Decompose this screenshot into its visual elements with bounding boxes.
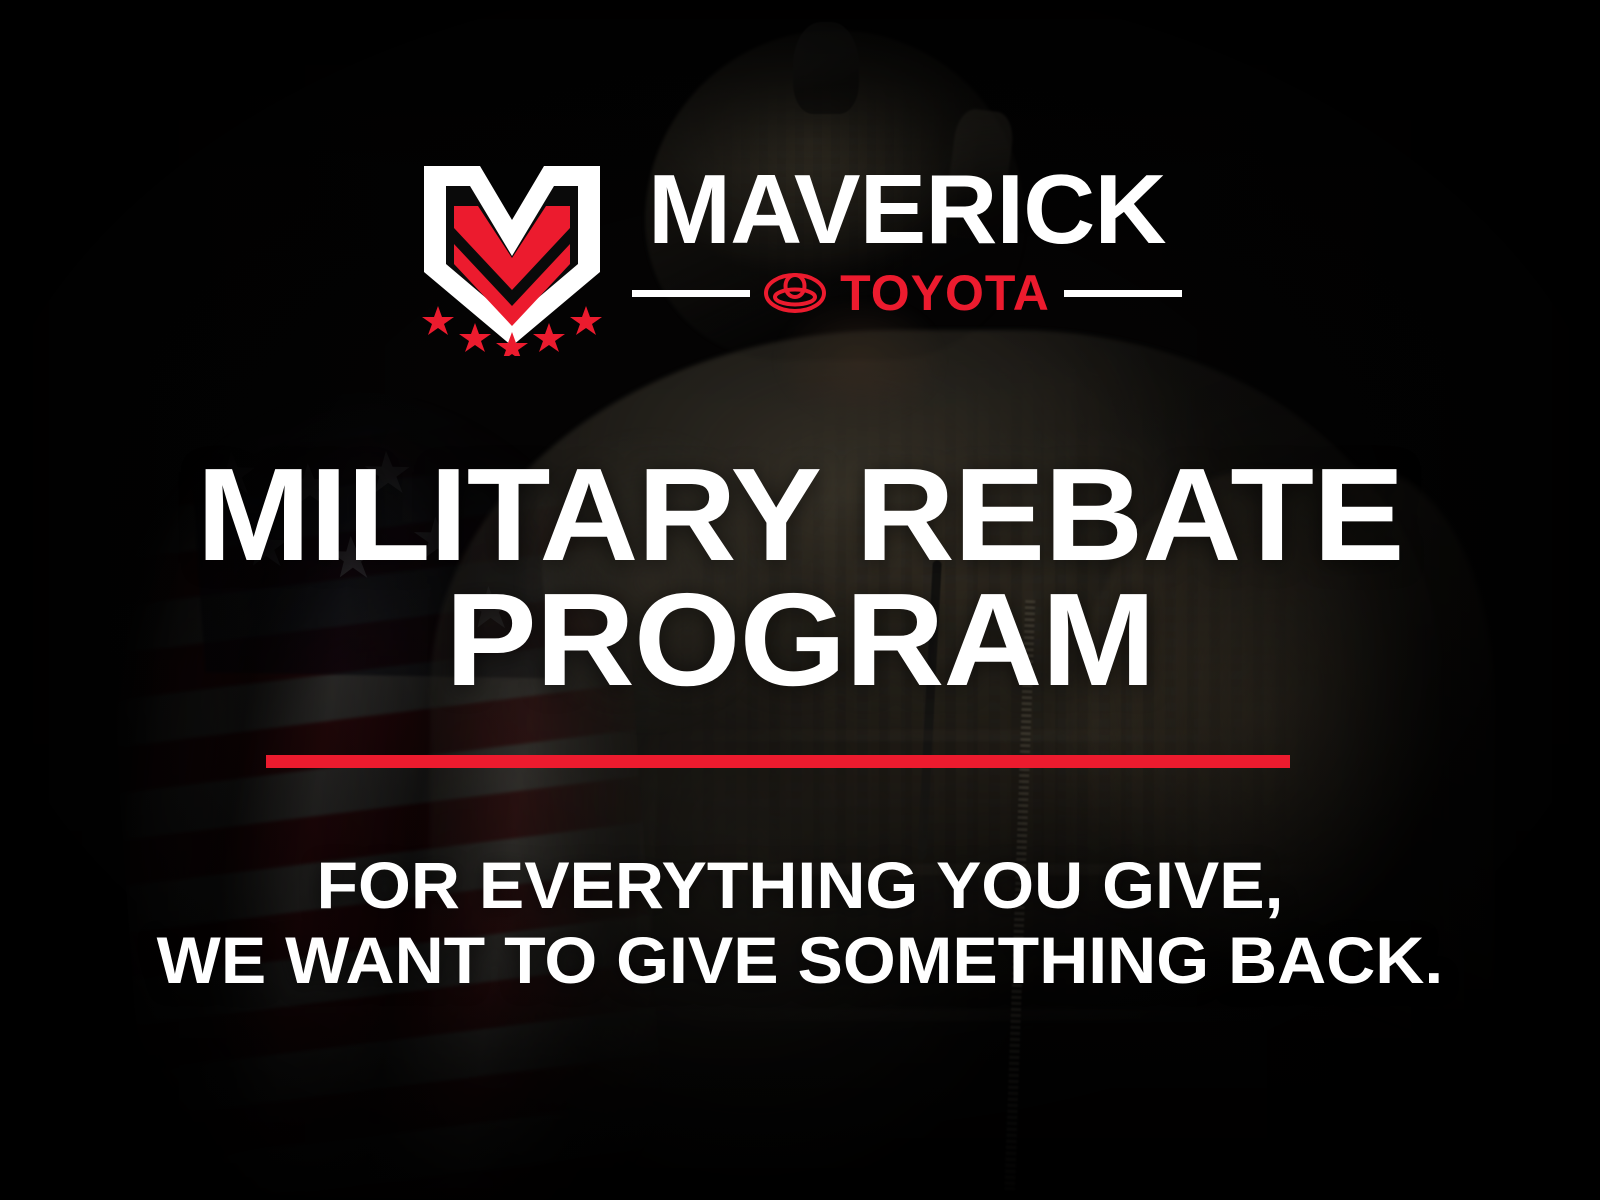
logo-wordmark-group: MAVERICK TOYOTA [632,160,1182,318]
brand-name: MAVERICK [648,164,1166,254]
divider-rule-right [1064,290,1182,297]
toyota-sublockup: TOYOTA [632,268,1182,318]
page-title: MILITARY REBATE PROGRAM [0,452,1600,703]
maverick-toyota-logo-lockup: MAVERICK TOYOTA [0,160,1600,356]
tagline-line-2: WE WANT TO GIVE SOMETHING BACK. [0,923,1600,998]
headline-line-2: PROGRAM [0,577,1600,702]
military-rebate-promo-banner: MAVERICK TOYOTA MILITARY REB [0,0,1600,1200]
tagline-line-1: FOR EVERYTHING YOU GIVE, [0,848,1600,923]
tagline: FOR EVERYTHING YOU GIVE, WE WANT TO GIVE… [0,848,1600,998]
red-divider-rule [266,755,1290,768]
toyota-wordmark: TOYOTA [840,268,1050,318]
headline-line-1: MILITARY REBATE [0,452,1600,577]
divider-rule-left [632,290,750,297]
toyota-ellipse-logo [764,272,826,314]
maverick-chevron-shield-emblem [418,160,606,356]
banner-content: MAVERICK TOYOTA MILITARY REB [0,0,1600,1200]
